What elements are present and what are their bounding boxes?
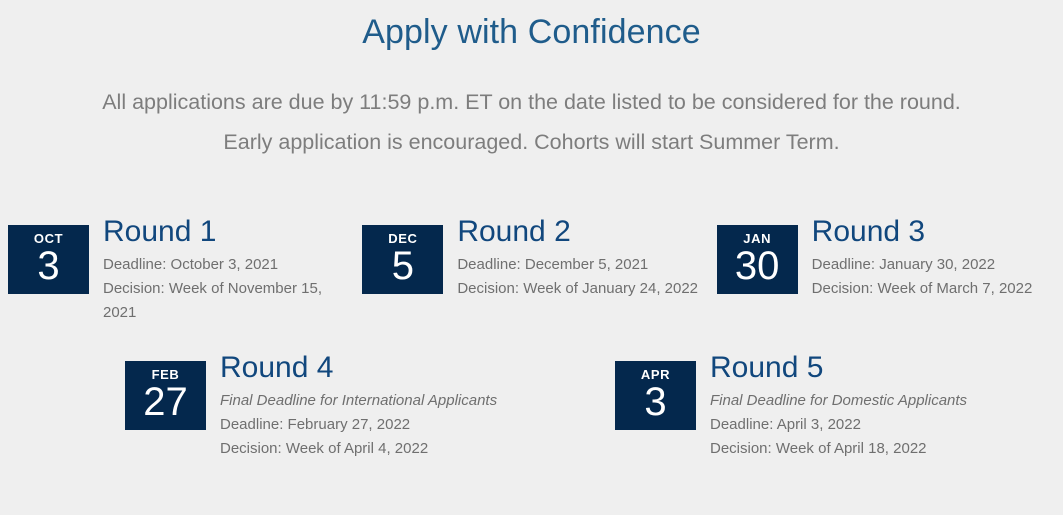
round-card: OCT 3 Round 1 Deadline: October 3, 2021 … — [8, 213, 362, 325]
intro-text: All applications are due by 11:59 p.m. E… — [0, 53, 1063, 162]
round-body: Round 1 Deadline: October 3, 2021 Decisi… — [89, 213, 362, 325]
badge-day: 30 — [735, 244, 780, 288]
date-badge: OCT 3 — [8, 225, 89, 294]
date-badge: DEC 5 — [362, 225, 443, 294]
round-decision: Decision: Week of April 18, 2022 — [710, 437, 1063, 461]
round-body: Round 4 Final Deadline for International… — [206, 349, 615, 461]
date-badge: FEB 27 — [125, 361, 206, 430]
badge-day: 3 — [644, 380, 666, 424]
badge-day: 5 — [392, 244, 414, 288]
page-title: Apply with Confidence — [0, 0, 1063, 53]
rounds-row-bottom: FEB 27 Round 4 Final Deadline for Intern… — [0, 349, 1063, 461]
round-title: Round 3 — [812, 213, 1063, 250]
round-note: Final Deadline for International Applica… — [220, 386, 609, 413]
round-note: Final Deadline for Domestic Applicants — [710, 386, 1063, 413]
round-title: Round 4 — [220, 349, 609, 386]
round-card: DEC 5 Round 2 Deadline: December 5, 2021… — [362, 213, 716, 325]
rounds-row-top: OCT 3 Round 1 Deadline: October 3, 2021 … — [0, 213, 1063, 325]
badge-day: 27 — [143, 380, 188, 424]
round-body: Round 5 Final Deadline for Domestic Appl… — [696, 349, 1063, 461]
round-deadline: Deadline: January 30, 2022 — [812, 250, 1063, 277]
round-card: FEB 27 Round 4 Final Deadline for Intern… — [125, 349, 615, 461]
date-badge: JAN 30 — [717, 225, 798, 294]
round-decision: Decision: Week of November 15, 2021 — [103, 277, 356, 325]
round-body: Round 2 Deadline: December 5, 2021 Decis… — [443, 213, 716, 301]
date-badge: APR 3 — [615, 361, 696, 430]
round-title: Round 2 — [457, 213, 710, 250]
round-title: Round 5 — [710, 349, 1063, 386]
round-card: JAN 30 Round 3 Deadline: January 30, 202… — [717, 213, 1063, 325]
intro-line-1: All applications are due by 11:59 p.m. E… — [0, 82, 1063, 122]
round-deadline: Deadline: December 5, 2021 — [457, 250, 710, 277]
intro-line-2: Early application is encouraged. Cohorts… — [0, 122, 1063, 162]
rounds-container: OCT 3 Round 1 Deadline: October 3, 2021 … — [0, 213, 1063, 461]
round-body: Round 3 Deadline: January 30, 2022 Decis… — [798, 213, 1063, 301]
round-card: APR 3 Round 5 Final Deadline for Domesti… — [615, 349, 1063, 461]
round-title: Round 1 — [103, 213, 356, 250]
round-deadline: Deadline: October 3, 2021 — [103, 250, 356, 277]
round-deadline: Deadline: April 3, 2022 — [710, 413, 1063, 437]
round-deadline: Deadline: February 27, 2022 — [220, 413, 609, 437]
round-decision: Decision: Week of March 7, 2022 — [812, 277, 1063, 301]
round-decision: Decision: Week of April 4, 2022 — [220, 437, 609, 461]
round-decision: Decision: Week of January 24, 2022 — [457, 277, 710, 301]
badge-day: 3 — [37, 244, 59, 288]
